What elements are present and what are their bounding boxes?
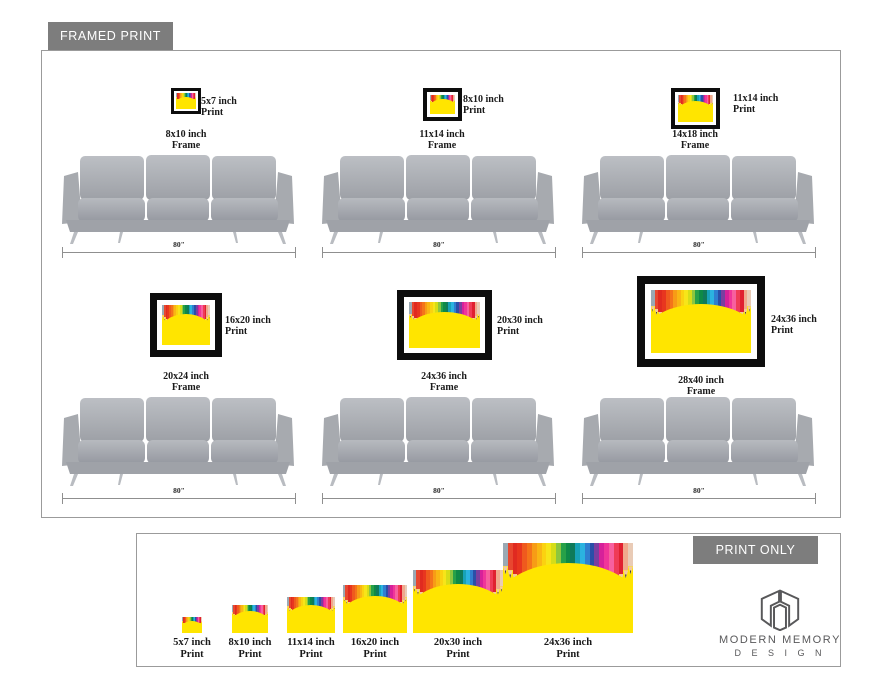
pencil-artwork bbox=[413, 570, 503, 633]
picture-frame[interactable] bbox=[423, 88, 462, 121]
picture-frame[interactable] bbox=[397, 290, 492, 360]
print-size-label: 5x7 inch Print bbox=[201, 96, 275, 118]
pencil-artwork bbox=[430, 95, 455, 114]
picture-frame[interactable] bbox=[171, 88, 201, 114]
poster-canvas: FRAMED PRINT PRINT ONLY 5x7 inch Print8x… bbox=[0, 0, 875, 700]
pencil-artwork bbox=[651, 290, 751, 353]
sofa-illustration bbox=[58, 390, 298, 486]
sofa-illustration bbox=[578, 148, 818, 244]
brand-logo: MODERN MEMORY D E S I G N bbox=[700, 588, 860, 660]
print-only-size-label: 24x36 inch Print bbox=[516, 637, 620, 661]
print-size-label: 8x10 inch Print bbox=[463, 94, 537, 116]
picture-frame[interactable] bbox=[671, 88, 720, 129]
pencil-artwork bbox=[678, 95, 713, 122]
modern-memory-design-monogram-icon bbox=[752, 588, 808, 630]
sofa-width-value: 80" bbox=[322, 240, 556, 249]
sofa-width-value: 80" bbox=[322, 486, 556, 495]
sofa-illustration bbox=[318, 390, 558, 486]
sofa-illustration bbox=[578, 390, 818, 486]
pencil-artwork bbox=[409, 302, 480, 348]
sofa-width-value: 80" bbox=[62, 486, 296, 495]
frame-mat bbox=[157, 300, 215, 350]
sofa-width-dimension: 80" bbox=[582, 243, 816, 257]
print-size-label: 11x14 inch Print bbox=[733, 93, 807, 115]
pencil-artwork bbox=[287, 597, 335, 633]
print-only-image[interactable] bbox=[232, 605, 268, 633]
pencil-artwork bbox=[232, 605, 268, 633]
tab-print-only[interactable]: PRINT ONLY bbox=[693, 536, 818, 564]
sofa-width-value: 80" bbox=[582, 486, 816, 495]
sofa-width-dimension: 80" bbox=[322, 489, 556, 503]
print-size-label: 24x36 inch Print bbox=[771, 314, 845, 336]
print-only-image[interactable] bbox=[503, 543, 633, 633]
frame-mat bbox=[675, 92, 716, 125]
frame-mat bbox=[174, 91, 198, 111]
picture-frame[interactable] bbox=[150, 293, 222, 357]
pencil-artwork bbox=[343, 585, 407, 633]
sofa-width-value: 80" bbox=[582, 240, 816, 249]
print-size-label: 20x30 inch Print bbox=[497, 315, 571, 337]
pencil-artwork bbox=[162, 305, 210, 345]
tab-framed-print[interactable]: FRAMED PRINT bbox=[48, 22, 173, 50]
picture-frame[interactable] bbox=[637, 276, 765, 367]
pencil-artwork bbox=[176, 93, 196, 109]
logo-name-line-2: D E S I G N bbox=[700, 648, 860, 658]
sofa-width-dimension: 80" bbox=[62, 489, 296, 503]
frame-mat bbox=[645, 284, 757, 359]
print-only-image[interactable] bbox=[287, 597, 335, 633]
sofa-illustration bbox=[58, 148, 298, 244]
print-only-image[interactable] bbox=[182, 617, 202, 633]
sofa-width-value: 80" bbox=[62, 240, 296, 249]
pencil-artwork bbox=[182, 617, 202, 633]
sofa-width-dimension: 80" bbox=[62, 243, 296, 257]
sofa-illustration bbox=[318, 148, 558, 244]
frame-mat bbox=[404, 297, 485, 353]
print-only-image[interactable] bbox=[413, 570, 503, 633]
frame-mat bbox=[427, 92, 458, 117]
print-only-size-label: 20x30 inch Print bbox=[406, 637, 510, 661]
print-only-image[interactable] bbox=[343, 585, 407, 633]
sofa-width-dimension: 80" bbox=[582, 489, 816, 503]
pencil-artwork bbox=[503, 543, 633, 633]
logo-name-line-1: MODERN MEMORY bbox=[700, 634, 860, 646]
print-size-label: 16x20 inch Print bbox=[225, 315, 299, 337]
sofa-width-dimension: 80" bbox=[322, 243, 556, 257]
